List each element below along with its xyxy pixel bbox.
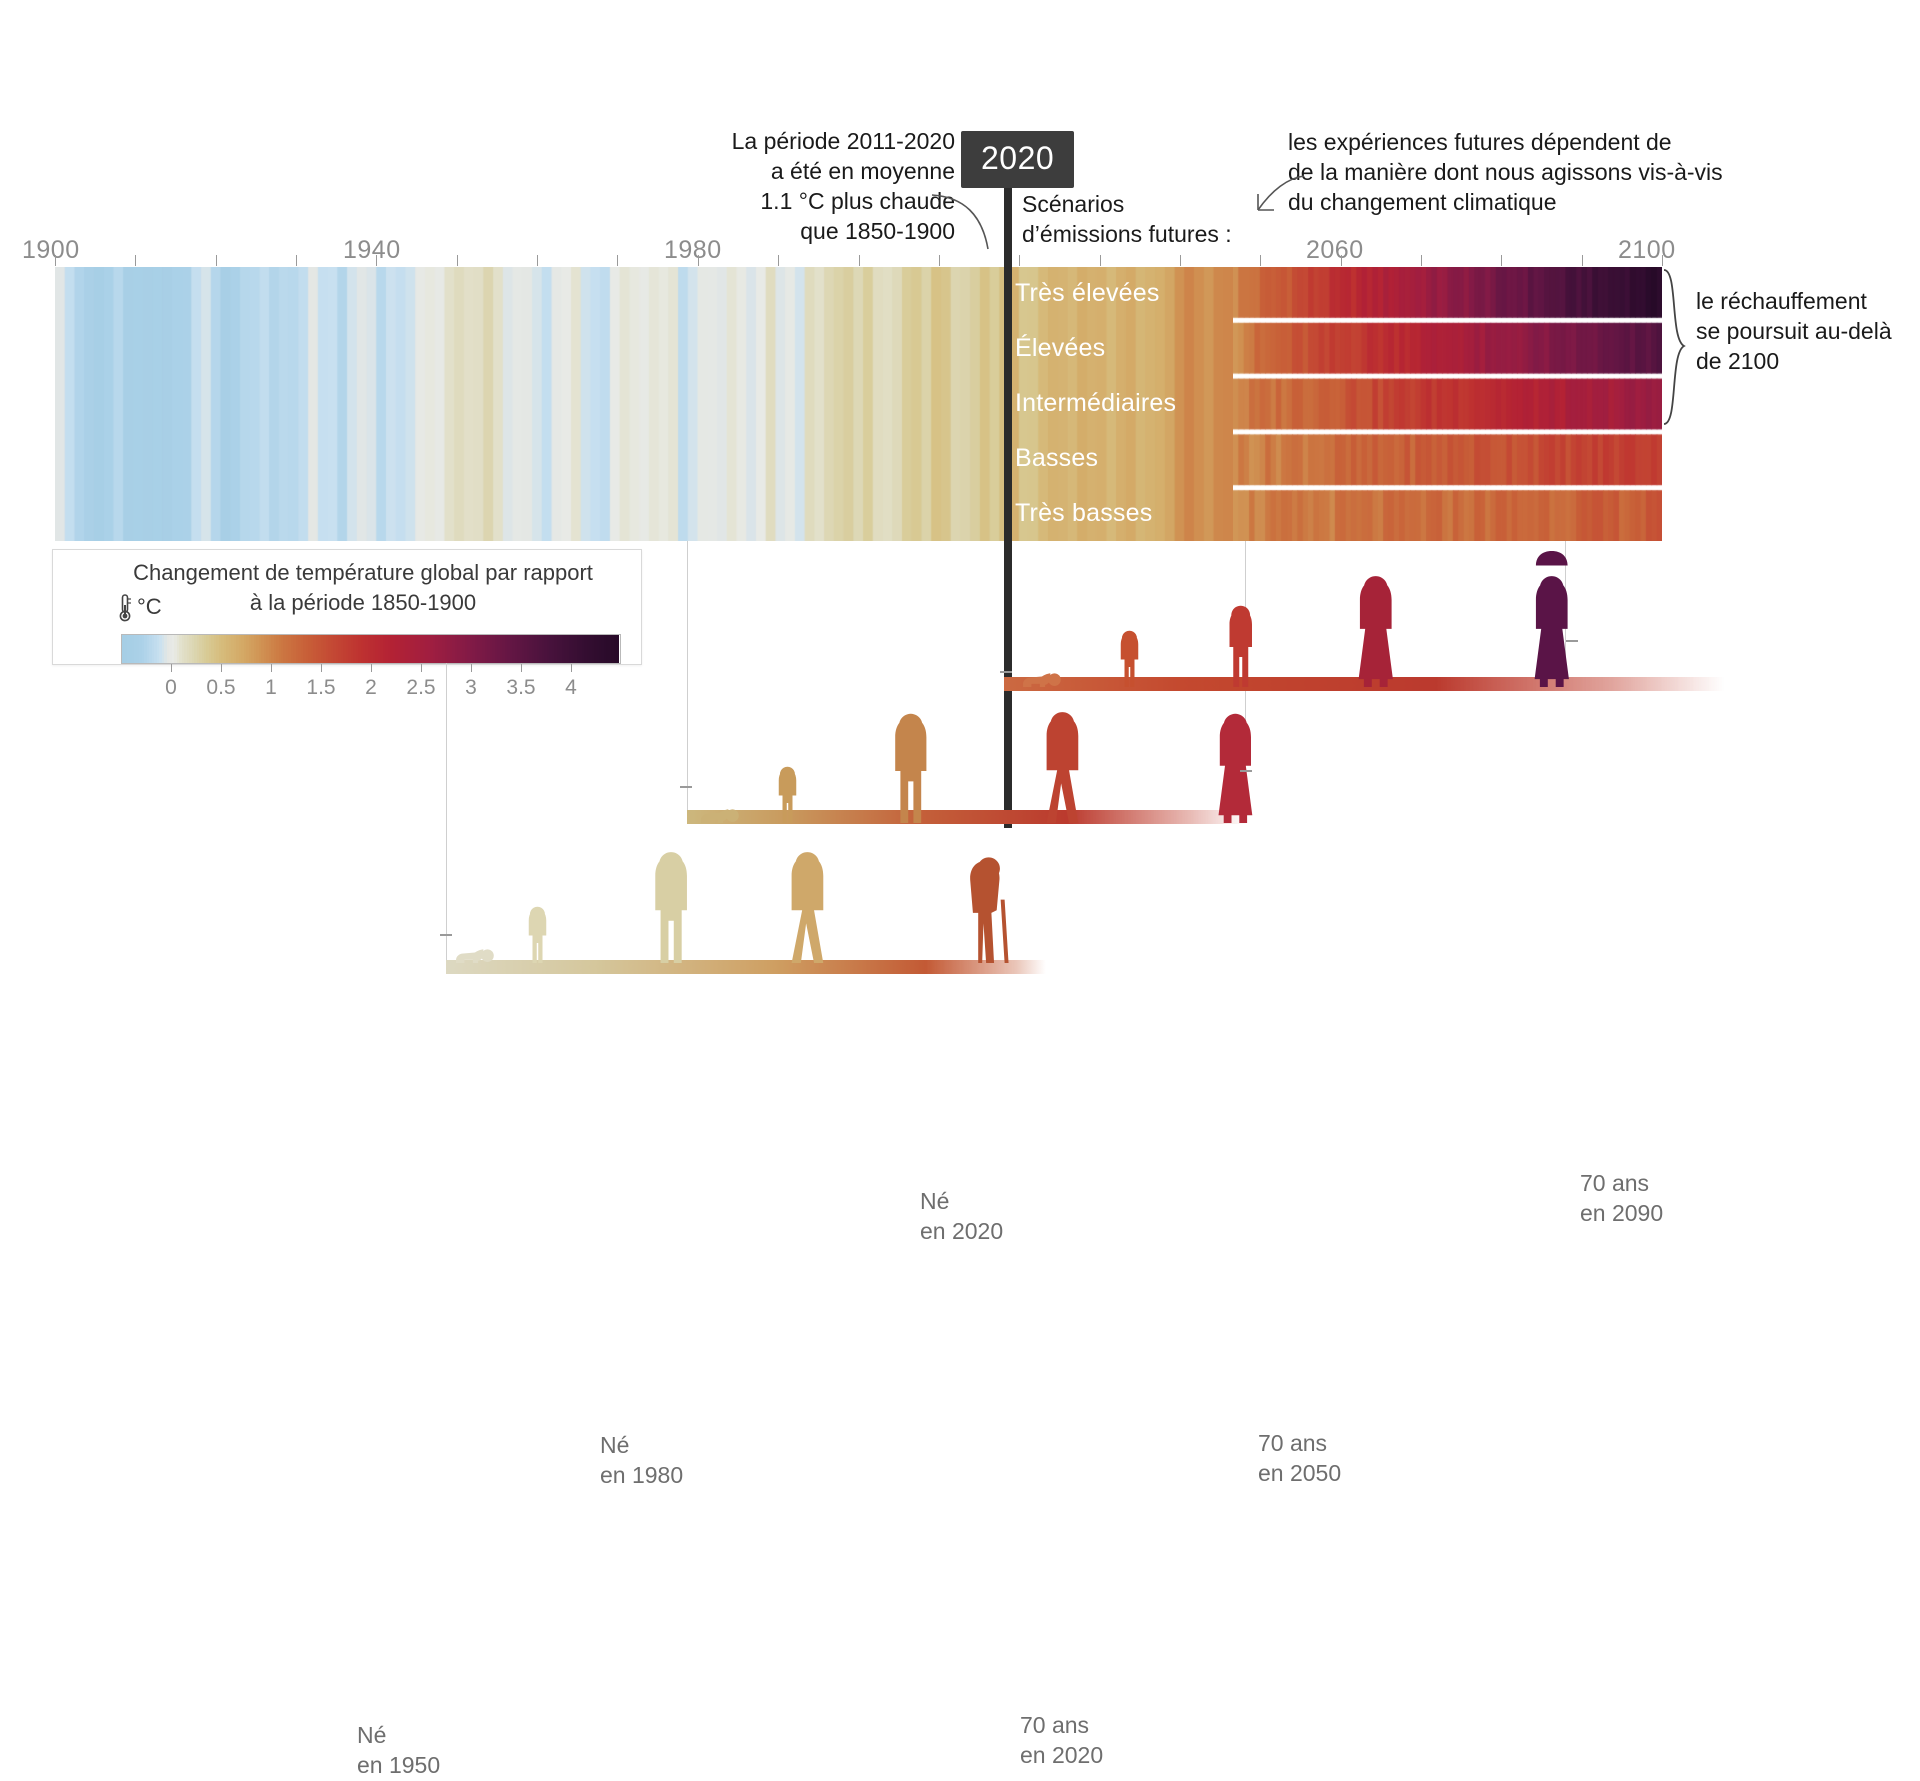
leader-tick-1950-birth [440, 934, 452, 936]
person-baby-1950 [456, 949, 494, 963]
label-line: 70 ans [1258, 1428, 1341, 1458]
label-line: en 2090 [1580, 1198, 1663, 1228]
leader-tick-2020-birth [1000, 671, 1012, 673]
person-adult-1950 [655, 852, 687, 963]
person-child-2020 [1121, 631, 1139, 687]
cohort-birth-label-1950: Né en 1950 [357, 1720, 440, 1781]
label-line: Né [600, 1430, 683, 1460]
person-child-1950 [529, 907, 547, 963]
label-line: en 2020 [920, 1216, 1003, 1246]
leader-tick-2050-age [1240, 770, 1252, 772]
label-line: Né [920, 1186, 1003, 1216]
label-line: en 2050 [1258, 1458, 1341, 1488]
cohort-birth-label-2020: Né en 2020 [920, 1186, 1003, 1247]
person-elder-2020 [970, 857, 1008, 963]
label-line: en 2020 [1020, 1740, 1103, 1770]
label-line: 70 ans [1580, 1168, 1663, 1198]
label-line: en 1980 [600, 1460, 683, 1490]
person-child-1980 [779, 767, 797, 823]
person-adult2-1950 [792, 852, 824, 963]
cohort-birth-label-1980: Né en 1980 [600, 1430, 683, 1491]
cohort-age-label-2050: 70 ans en 2050 [1258, 1428, 1341, 1489]
person-baby-2020 [1023, 673, 1061, 687]
cohort-age-label-2090: 70 ans en 2090 [1580, 1168, 1663, 1229]
person-teen-2020 [1230, 606, 1253, 687]
person-adult-2020 [1359, 576, 1393, 687]
person-baby-1980 [701, 809, 739, 823]
label-line: Né [357, 1720, 440, 1750]
label-line: 70 ans [1020, 1710, 1103, 1740]
label-line: en 1950 [357, 1750, 440, 1780]
people-figures-layer [0, 0, 1920, 1079]
cohort-age-label-2020: 70 ans en 2020 [1020, 1710, 1103, 1771]
leader-tick-2090-age [1566, 640, 1578, 642]
person-adult-1980 [895, 714, 926, 823]
person-senior-2050 [1219, 714, 1253, 823]
person-senior-2090 [1535, 551, 1569, 687]
leader-tick-1980-birth [680, 786, 692, 788]
person-adult2-1980 [1047, 712, 1079, 823]
